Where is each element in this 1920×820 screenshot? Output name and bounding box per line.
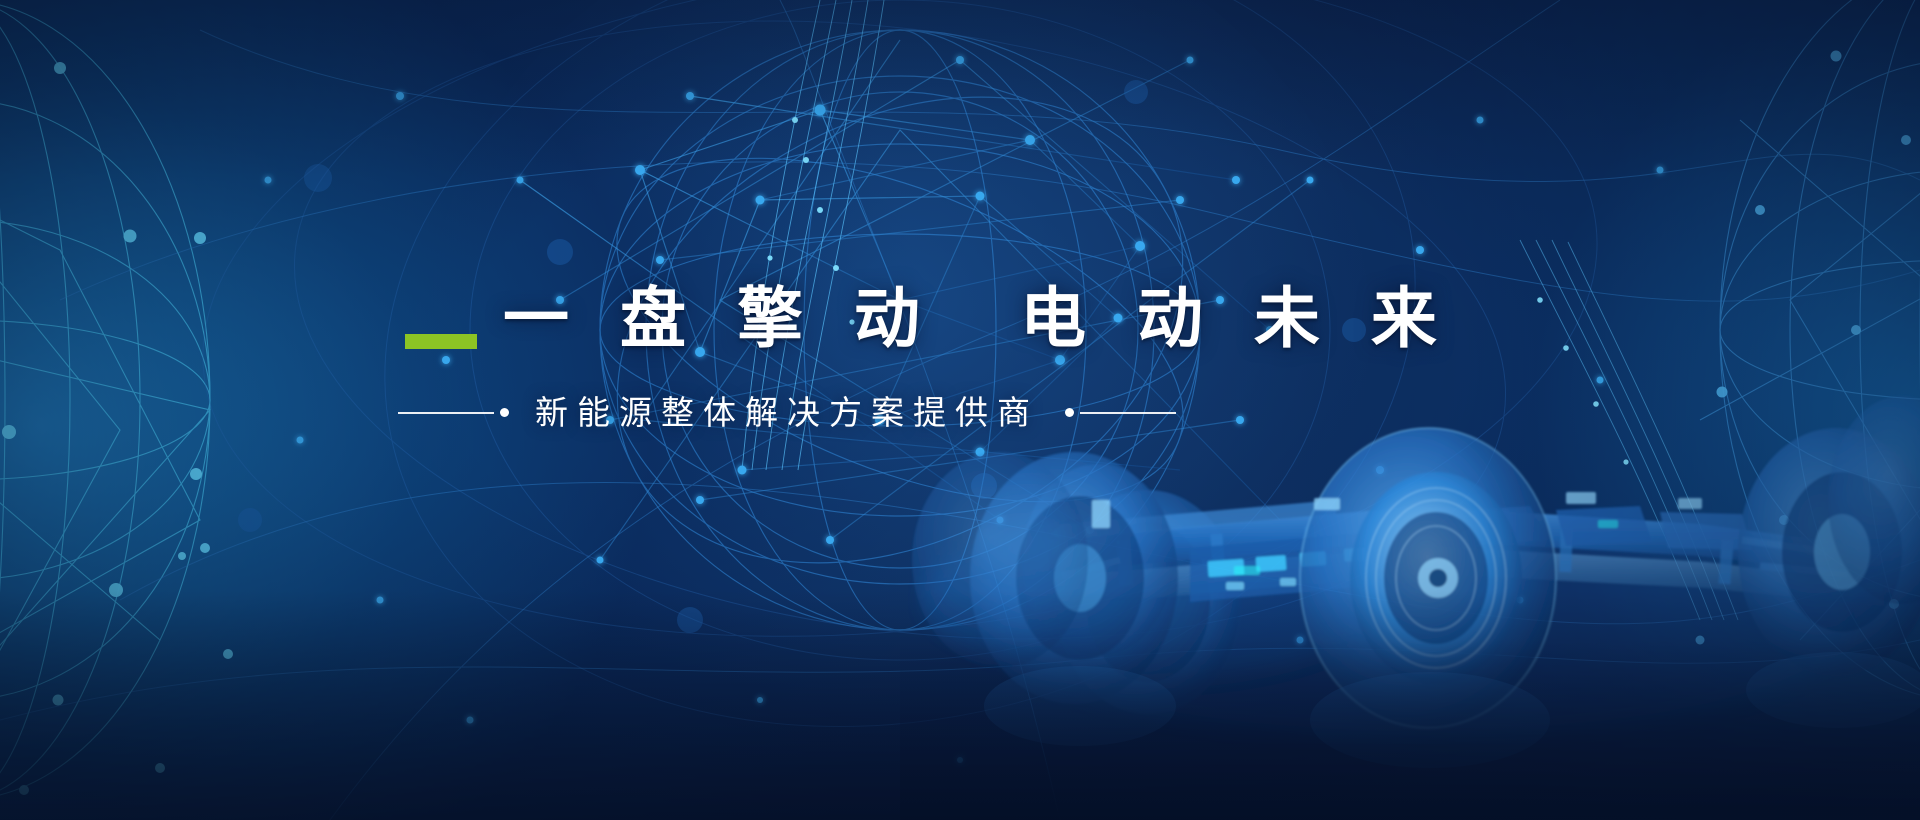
left-rule-ornament: [398, 412, 494, 414]
banner-headline: 一 盘 擎 动 电 动 未 来: [405, 286, 1451, 352]
right-dot-ornament: [1065, 408, 1074, 417]
green-dash-accent-icon: [405, 334, 477, 349]
banner-subtitle: 新能源整体解决方案提供商: [535, 396, 1039, 429]
left-dot-ornament: [500, 408, 509, 417]
right-rule-ornament: [1080, 412, 1176, 414]
banner-content: 一 盘 擎 动 电 动 未 来 新能源整体解决方案提供商: [0, 0, 1920, 820]
banner-subtitle-row: 新能源整体解决方案提供商: [398, 396, 1176, 429]
headline-part-one: 一 盘 擎 动: [503, 286, 934, 352]
hero-banner: 一 盘 擎 动 电 动 未 来 新能源整体解决方案提供商: [0, 0, 1920, 820]
headline-part-two: 电 动 未 来: [1020, 286, 1451, 352]
